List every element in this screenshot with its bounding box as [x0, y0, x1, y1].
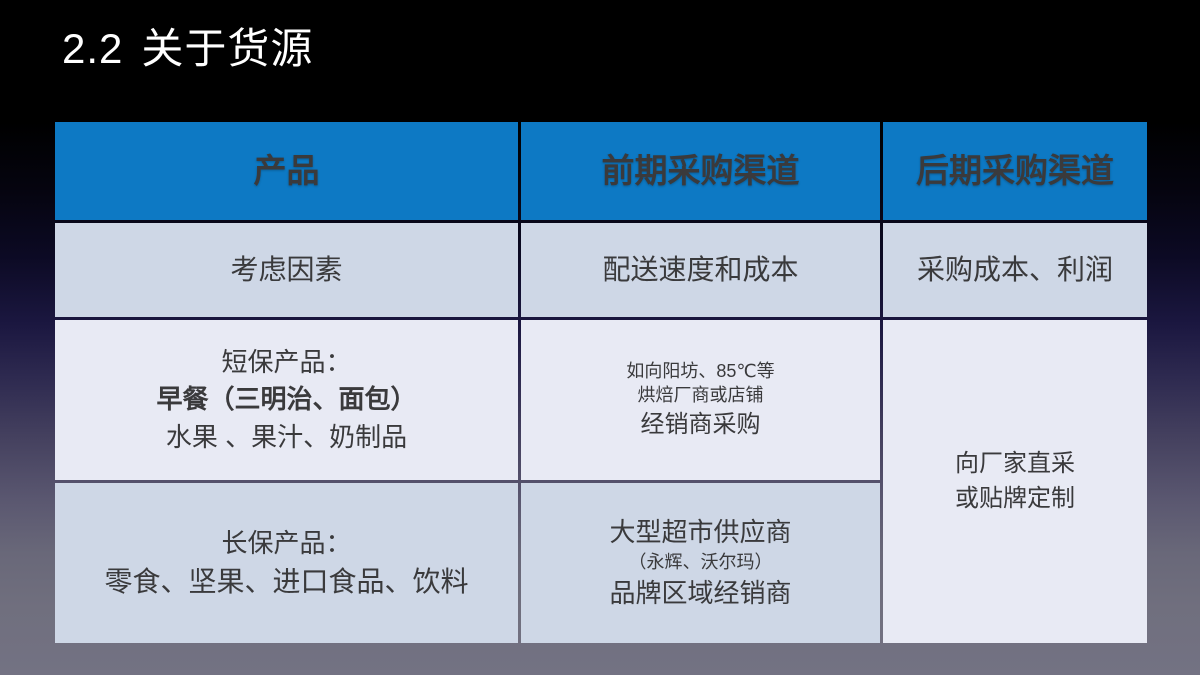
table-header-early-channel: 前期采购渠道 — [521, 122, 880, 220]
short-shelf-breakfast: 早餐（三明治、面包） — [61, 382, 512, 417]
cell-considerations-early: 配送速度和成本 — [521, 223, 880, 317]
cell-short-shelf-early: 如向阳坊、85℃等 烘焙厂商或店铺 经销商采购 — [521, 320, 880, 480]
page-title-number: 2.2 — [62, 25, 123, 72]
long-shelf-items: 零食、坚果、进口食品、饮料 — [61, 563, 512, 601]
table-header-product: 产品 — [55, 122, 518, 220]
cell-considerations-product: 考虑因素 — [55, 223, 518, 317]
cell-short-shelf-product: 短保产品： 早餐（三明治、面包） 水果 、果汁、奶制品 — [55, 320, 518, 480]
cell-long-shelf-early: 大型超市供应商 （永辉、沃尔玛） 品牌区域经销商 — [521, 483, 880, 643]
page-title-text: 关于货源 — [141, 25, 313, 72]
table-row: 考虑因素 配送速度和成本 采购成本、利润 — [55, 223, 1147, 317]
sourcing-table: 产品 前期采购渠道 后期采购渠道 考虑因素 配送速度和成本 采购成本、利润 短保… — [52, 119, 1138, 644]
long-early-supermarket: 大型超市供应商 — [527, 515, 874, 550]
page-title: 2.2关于货源 — [62, 24, 313, 74]
short-early-bakery: 烘焙厂商或店铺 — [527, 383, 874, 407]
late-oem-custom: 或贴牌定制 — [889, 483, 1141, 515]
table-header-late-channel: 后期采购渠道 — [883, 122, 1147, 220]
table-header-row: 产品 前期采购渠道 后期采购渠道 — [55, 122, 1147, 220]
short-early-distributor: 经销商采购 — [527, 409, 874, 441]
cell-considerations-late: 采购成本、利润 — [883, 223, 1147, 317]
short-early-brands: 如向阳坊、85℃等 — [527, 359, 874, 383]
table-row: 短保产品： 早餐（三明治、面包） 水果 、果汁、奶制品 如向阳坊、85℃等 烘焙… — [55, 320, 1147, 480]
cell-long-shelf-product: 长保产品： 零食、坚果、进口食品、饮料 — [55, 483, 518, 643]
long-early-regional: 品牌区域经销商 — [527, 576, 874, 611]
slide-canvas: 2.2关于货源 产品 前期采购渠道 后期采购渠道 考虑因素 配送速度和成本 采购… — [0, 0, 1200, 675]
late-direct-factory: 向厂家直采 — [889, 448, 1141, 480]
long-shelf-label: 长保产品： — [61, 526, 512, 561]
short-shelf-label: 短保产品： — [61, 345, 512, 380]
cell-late-channel-merged: 向厂家直采 或贴牌定制 — [883, 320, 1147, 643]
short-shelf-fresh: 水果 、果汁、奶制品 — [61, 420, 512, 455]
long-early-examples: （永辉、沃尔玛） — [527, 550, 874, 574]
